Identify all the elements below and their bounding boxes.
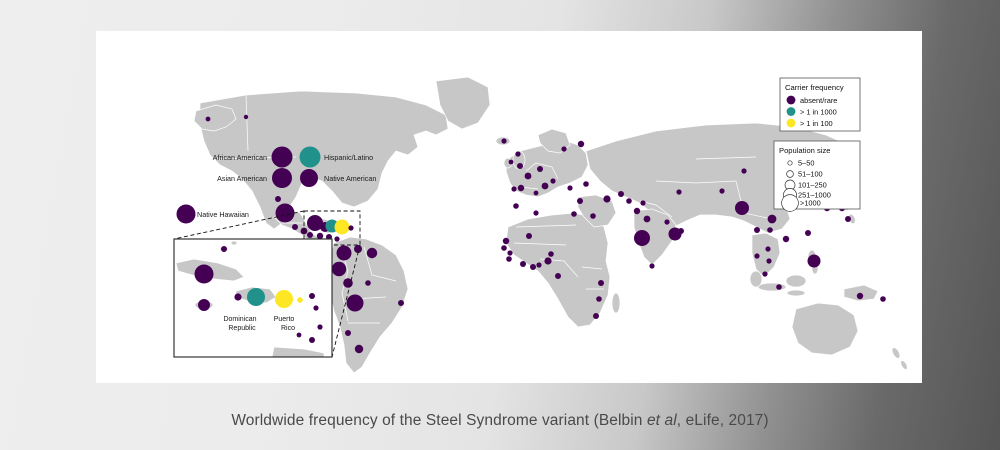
map-marker[interactable] [634, 230, 650, 246]
map-marker[interactable] [337, 246, 352, 261]
carrier-swatch-gt-1-in-100[interactable] [787, 119, 796, 128]
map-marker[interactable] [735, 201, 749, 215]
inset-marker[interactable] [309, 337, 315, 343]
inset-marker[interactable] [221, 246, 227, 252]
us-group-marker[interactable] [300, 169, 318, 187]
map-marker[interactable] [542, 183, 549, 190]
population-legend-title: Population size [779, 146, 831, 155]
inset-label: Republic [228, 325, 256, 332]
map-marker[interactable] [317, 233, 323, 239]
figure-caption: Worldwide frequency of the Steel Syndrom… [0, 412, 1000, 430]
inset-marker[interactable] [275, 290, 293, 308]
inset-marker[interactable] [198, 299, 210, 311]
map-marker[interactable] [776, 284, 782, 290]
map-marker[interactable] [741, 168, 746, 173]
map-marker[interactable] [583, 181, 589, 187]
population-swatch-1[interactable] [787, 171, 794, 178]
inset-marker[interactable] [195, 265, 214, 284]
map-marker[interactable] [275, 196, 281, 202]
map-marker[interactable] [332, 262, 346, 276]
map-marker[interactable] [355, 345, 363, 353]
map-marker[interactable] [525, 173, 532, 180]
land-madagascar [612, 293, 620, 313]
map-marker[interactable] [398, 300, 404, 306]
carrier-legend-label-0: absent/rare [800, 96, 837, 105]
map-marker[interactable] [533, 210, 538, 215]
map-marker[interactable] [345, 330, 351, 336]
map-label: Native American [324, 174, 376, 183]
map-marker[interactable] [518, 185, 524, 191]
world-map-figure: African AmericanHispanic/LatinoAsian Ame… [96, 31, 922, 383]
us-group-marker[interactable] [177, 205, 196, 224]
map-marker[interactable] [598, 280, 604, 286]
map-marker[interactable] [640, 200, 645, 205]
map-marker[interactable] [206, 117, 211, 122]
map-marker[interactable] [567, 185, 572, 190]
screenshot-root: African AmericanHispanic/LatinoAsian Ame… [0, 0, 1000, 450]
inset-label: Puerto [274, 316, 295, 323]
inset-marker[interactable] [309, 293, 315, 299]
carrier-swatch-gt-1-in-1000[interactable] [787, 107, 796, 116]
map-marker[interactable] [767, 227, 773, 233]
map-marker[interactable] [577, 198, 583, 204]
map-marker[interactable] [530, 264, 536, 270]
population-swatch-0[interactable] [788, 161, 792, 165]
carrier-legend-label-1: > 1 in 1000 [800, 108, 837, 117]
map-marker[interactable] [550, 178, 555, 183]
map-label: African American [213, 153, 267, 162]
map-marker[interactable] [276, 204, 295, 223]
figure-panel: African AmericanHispanic/LatinoAsian Ame… [96, 31, 922, 383]
map-marker[interactable] [719, 188, 724, 193]
map-marker[interactable] [506, 256, 512, 262]
map-label: Native Hawaiian [197, 210, 249, 219]
map-marker[interactable] [766, 258, 771, 263]
map-marker[interactable] [571, 211, 577, 217]
map-marker[interactable] [503, 238, 509, 244]
map-marker[interactable] [517, 163, 523, 169]
map-marker[interactable] [626, 198, 632, 204]
map-marker[interactable] [754, 227, 760, 233]
map-marker[interactable] [347, 295, 364, 312]
map-marker[interactable] [618, 191, 624, 197]
map-marker[interactable] [507, 250, 512, 255]
map-marker[interactable] [634, 208, 640, 214]
caption-text-italic: et al [647, 412, 677, 429]
map-label: Hispanic/Latino [324, 153, 373, 162]
map-label: Asian American [217, 174, 267, 183]
map-marker[interactable] [513, 203, 519, 209]
caption-text-after: , eLife, 2017) [677, 412, 769, 429]
map-marker[interactable] [307, 232, 313, 238]
map-marker[interactable] [501, 138, 506, 143]
us-group-marker[interactable] [272, 168, 292, 188]
map-marker[interactable] [334, 236, 339, 241]
map-marker[interactable] [520, 261, 526, 267]
map-marker[interactable] [768, 215, 777, 224]
map-marker[interactable] [555, 273, 561, 279]
map-marker[interactable] [501, 245, 507, 251]
map-marker[interactable] [578, 141, 584, 147]
map-marker[interactable] [511, 186, 516, 191]
map-marker[interactable] [348, 225, 353, 230]
map-marker[interactable] [649, 263, 654, 268]
map-marker[interactable] [808, 255, 821, 268]
map-marker[interactable] [880, 296, 886, 302]
map-marker[interactable] [678, 228, 684, 234]
us-group-marker[interactable] [300, 147, 321, 168]
map-marker[interactable] [664, 219, 669, 224]
map-marker[interactable] [857, 293, 863, 299]
population-legend-label-4: >1000 [800, 199, 821, 208]
map-marker[interactable] [536, 262, 541, 267]
map-marker[interactable] [590, 213, 596, 219]
population-legend-label-0: 5–50 [798, 159, 814, 168]
carrier-swatch-absent-rare[interactable] [787, 96, 796, 105]
map-marker[interactable] [593, 313, 599, 319]
inset-marker[interactable] [297, 333, 302, 338]
caribbean-inset: DominicanRepublicPuertoRico [174, 239, 332, 357]
inset-marker[interactable] [234, 293, 241, 300]
inset-label: Rico [281, 325, 295, 332]
population-swatch-4[interactable] [782, 195, 799, 212]
map-marker[interactable] [596, 296, 602, 302]
map-marker[interactable] [561, 146, 566, 151]
carrier-legend-label-2: > 1 in 100 [800, 119, 833, 128]
map-marker[interactable] [537, 166, 543, 172]
map-marker[interactable] [515, 151, 520, 156]
map-marker[interactable] [509, 160, 514, 165]
carrier-legend-title: Carrier frequency [785, 83, 844, 92]
map-marker[interactable] [534, 191, 539, 196]
map-marker[interactable] [676, 189, 681, 194]
map-marker[interactable] [244, 115, 248, 119]
map-marker[interactable] [365, 280, 371, 286]
population-legend-label-1: 51–100 [798, 170, 823, 179]
map-marker[interactable] [526, 233, 532, 239]
map-marker[interactable] [367, 248, 377, 258]
map-marker[interactable] [292, 224, 298, 230]
map-marker[interactable] [765, 246, 770, 251]
map-marker[interactable] [762, 271, 767, 276]
inset-marker[interactable] [297, 297, 303, 303]
inset-marker[interactable] [313, 305, 318, 310]
map-marker[interactable] [644, 216, 651, 223]
inset-marker[interactable] [317, 324, 322, 329]
map-marker[interactable] [845, 216, 851, 222]
map-marker[interactable] [603, 195, 610, 202]
map-marker[interactable] [548, 251, 554, 257]
map-marker[interactable] [754, 253, 759, 258]
map-marker[interactable] [335, 220, 350, 235]
map-marker[interactable] [805, 230, 811, 236]
inset-marker[interactable] [247, 288, 265, 306]
population-legend-label-2: 101–250 [798, 181, 827, 190]
carrier-frequency-legend: Carrier frequency absent/rare > 1 in 100… [780, 78, 860, 131]
caption-text-before: Worldwide frequency of the Steel Syndrom… [231, 412, 647, 429]
population-size-legend: Population size 5–50 51–100 101–250 251–… [774, 141, 860, 211]
us-group-marker[interactable] [272, 147, 293, 168]
inset-label: Dominican [223, 316, 256, 323]
map-marker[interactable] [544, 257, 551, 264]
map-marker[interactable] [783, 236, 789, 242]
